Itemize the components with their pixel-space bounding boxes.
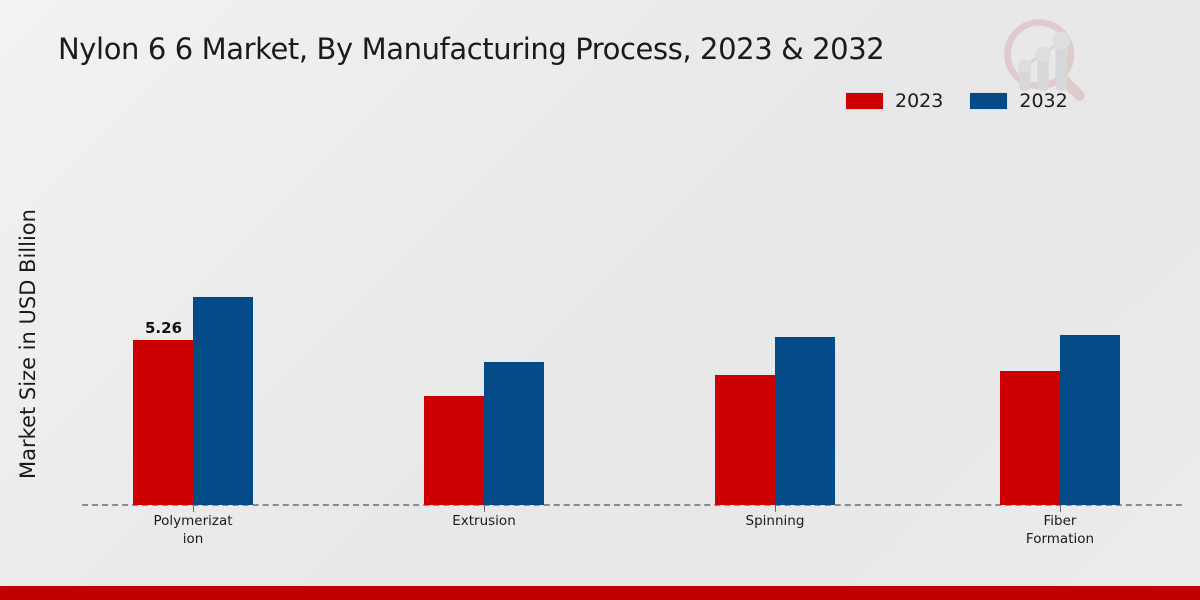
- bar-2023-group-2[interactable]: [424, 396, 484, 505]
- x-axis-label-line1: Spinning: [685, 512, 865, 530]
- x-axis-label-line1: Fiber: [970, 512, 1150, 530]
- bar-2023-group-1[interactable]: [133, 340, 193, 505]
- x-axis-label-2: Extrusion: [394, 512, 574, 530]
- x-axis-label-line1: Extrusion: [394, 512, 574, 530]
- bar-2032-group-1[interactable]: [193, 297, 253, 505]
- x-axis-tick-2: [484, 505, 485, 512]
- x-axis-label-4: FiberFormation: [970, 512, 1150, 548]
- plot-area: 5.26PolymerizationExtrusionSpinningFiber…: [0, 0, 1200, 600]
- chart-canvas: Nylon 6 6 Market, By Manufacturing Proce…: [0, 0, 1200, 600]
- x-axis-tick-4: [1060, 505, 1061, 512]
- x-axis-label-line2: Formation: [970, 530, 1150, 548]
- bar-2023-group-3[interactable]: [715, 375, 775, 505]
- bar-2032-group-2[interactable]: [484, 362, 544, 505]
- x-axis-label-line2: ion: [103, 530, 283, 548]
- x-axis-label-1: Polymerization: [103, 512, 283, 548]
- x-axis-tick-1: [193, 505, 194, 512]
- bar-2032-group-3[interactable]: [775, 337, 835, 505]
- x-axis-label-line1: Polymerizat: [103, 512, 283, 530]
- x-axis-tick-3: [775, 505, 776, 512]
- bar-2023-group-4[interactable]: [1000, 371, 1060, 505]
- bar-value-label-2023-group-1: 5.26: [145, 319, 182, 337]
- bar-2032-group-4[interactable]: [1060, 335, 1120, 505]
- footer-accent-bar: [0, 586, 1200, 600]
- x-axis-label-3: Spinning: [685, 512, 865, 530]
